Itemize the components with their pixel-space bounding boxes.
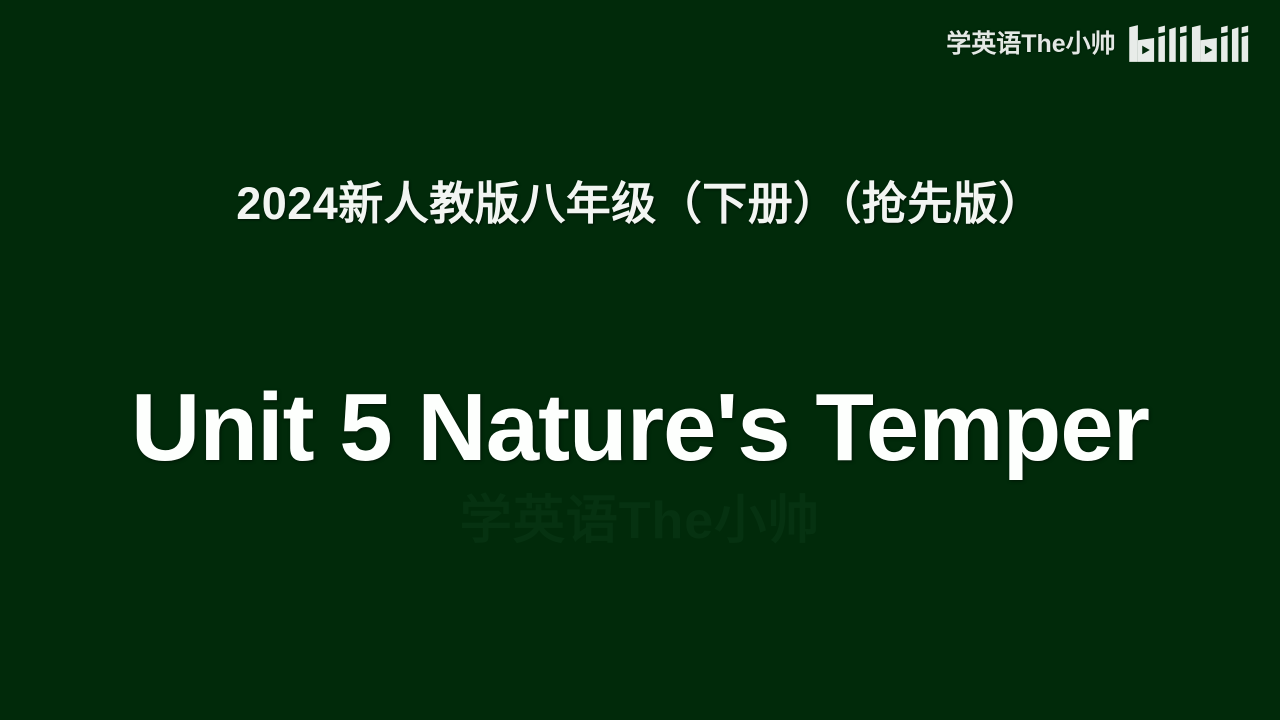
title-block: 2024新人教版八年级（下册）（抢先版） 学英语The小帅 Unit 5 Nat…	[0, 0, 1280, 720]
presentation-slide: 学英语The小帅	[0, 0, 1280, 720]
page-title: Unit 5 Nature's Temper	[0, 378, 1280, 479]
ghost-watermark-text: 学英语The小帅	[0, 495, 1280, 547]
course-subtitle: 2024新人教版八年级（下册）（抢先版）	[0, 178, 1280, 230]
